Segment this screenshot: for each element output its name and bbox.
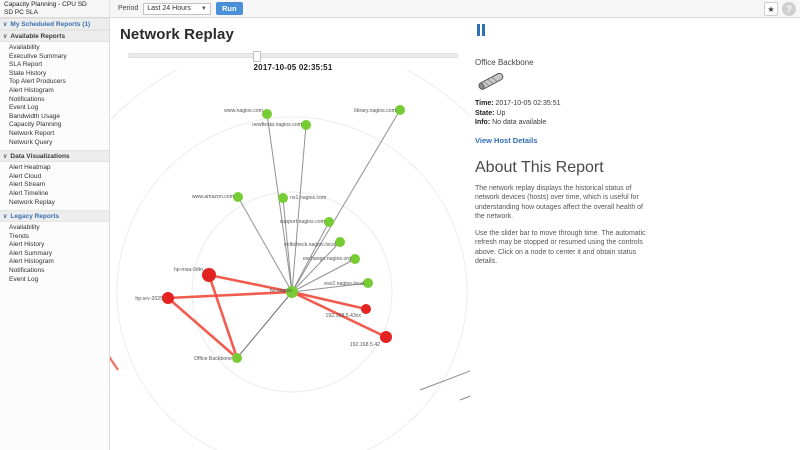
chevron-down-icon: ▼ [201,6,207,12]
network-graph-canvas[interactable]: www.nagios.comnewfiesta.nagios.comlibrar… [110,70,470,450]
node-info-key: Info: [475,119,490,126]
graph-node-label: newfiesta.nagios.com [252,122,302,128]
graph-node[interactable] [278,193,288,203]
period-select[interactable]: Last 24 Hours ▼ [143,3,211,15]
graph-node[interactable] [350,254,360,264]
graph-node[interactable] [335,237,345,247]
view-host-details-link[interactable]: View Host Details [475,136,650,145]
sidebar-item-network-replay[interactable]: Network Replay [9,199,109,208]
about-report-title: About This Report [475,159,650,177]
sidebar-item-event-log[interactable]: Event Log [9,276,109,285]
sidebar-item-availability[interactable]: Availability [9,224,109,233]
sidebar-item-notifications[interactable]: Notifications [9,96,109,105]
sidebar-section-data-visualizations[interactable]: ∨Data Visualizations [0,150,109,162]
graph-node-label: www.nagios.com [224,108,263,114]
chevron-down-icon: ∨ [3,21,7,28]
graph-node[interactable] [363,278,373,288]
main-content: Network Replay 2017-10-05 02:35:51 www.n… [110,18,800,450]
pause-icon-bar-left [477,24,480,36]
pause-button[interactable] [477,24,491,36]
node-status-block: Time: 2017-10-05 02:35:51 State: Up Info… [475,99,650,128]
chevron-down-icon: ∨ [3,33,7,40]
sidebar-section-label: Legacy Reports [10,213,59,220]
sidebar-item-availability[interactable]: Availability [9,44,109,53]
sidebar-item-top-alert-producers[interactable]: Top Alert Producers [9,78,109,87]
sidebar-section-label: Available Reports [10,33,65,40]
sidebar-section-items: AvailabilityTrendsAlert HistoryAlert Sum… [0,222,109,287]
graph-node[interactable] [233,192,243,202]
report-controls: Period Last 24 Hours ▼ Run [110,2,243,15]
graph-node-label: support.nagios.com [280,219,325,225]
node-info-row: Info: No data available [475,118,650,128]
sidebar-item-bandwidth-usage[interactable]: Bandwidth Usage [9,113,109,122]
sidebar: ∨My Scheduled Reports (1)∨Available Repo… [0,18,110,450]
node-state-value: Up [496,110,505,117]
sidebar-section-items: AvailabilityExecutive SummarySLA ReportS… [0,42,109,150]
sidebar-item-alert-timeline[interactable]: Alert Timeline [9,190,109,199]
sidebar-item-capacity-planning[interactable]: Capacity Planning [9,121,109,130]
graph-edge [292,110,400,292]
graph-node-label: esx2.nagios.local [324,281,364,287]
help-icon[interactable]: ? [782,2,796,16]
selected-node-name: Office Backbone [475,58,650,67]
sidebar-section-available-reports[interactable]: ∨Available Reports [0,30,109,42]
about-report-paragraph-2: Use the slider bar to move through time.… [475,229,650,267]
current-report-line1: Capacity Planning - CPU SD [4,1,105,9]
graph-node[interactable] [395,105,405,115]
sidebar-item-notifications[interactable]: Notifications [9,267,109,276]
time-slider-handle[interactable] [253,51,261,62]
network-replay-app: Capacity Planning - CPU SD SD PC SLA Per… [0,0,800,450]
graph-node-label: exchange.nagios.org [303,256,351,262]
node-info-value: No data available [492,119,546,126]
switch-device-icon [475,73,509,91]
top-bar-actions: ★ ? [764,2,796,16]
sidebar-item-event-log[interactable]: Event Log [9,104,109,113]
sidebar-section-label: My Scheduled Reports (1) [10,21,90,28]
graph-ring [117,117,467,450]
sidebar-item-executive-summary[interactable]: Executive Summary [9,53,109,62]
node-state-key: State: [475,110,494,117]
sidebar-item-alert-histogram[interactable]: Alert Histogram [9,87,109,96]
pause-icon-bar-right [482,24,485,36]
graph-node-label: 192.168.5.43xx [326,313,362,319]
graph-node-label: fw-nagios [270,288,293,294]
graph-node[interactable] [361,304,371,314]
graph-node[interactable] [162,292,174,304]
graph-node[interactable] [380,331,392,343]
chevron-down-icon: ∨ [3,213,7,220]
app-body: ∨My Scheduled Reports (1)∨Available Repo… [0,18,800,450]
sidebar-item-alert-histogram[interactable]: Alert Histogram [9,258,109,267]
graph-node-label: Office Backbone [194,356,232,362]
chevron-down-icon: ∨ [3,153,7,160]
graph-node[interactable] [262,109,272,119]
about-report-paragraph-1: The network replay displays the historic… [475,184,650,222]
top-bar: Capacity Planning - CPU SD SD PC SLA Per… [0,0,800,18]
sidebar-item-alert-cloud[interactable]: Alert Cloud [9,173,109,182]
graph-edge [110,340,118,370]
details-panel: Office Backbone Time: 2017-10-05 02:35:5… [465,18,660,450]
graph-node[interactable] [232,353,242,363]
graph-node-label: hp-msa-0dtn [174,267,203,273]
graph-node-label: hp-srv-2025 [135,296,163,302]
sidebar-item-sla-report[interactable]: SLA Report [9,61,109,70]
current-report-name: Capacity Planning - CPU SD SD PC SLA [0,0,110,17]
sidebar-item-trends[interactable]: Trends [9,233,109,242]
sidebar-item-state-history[interactable]: State History [9,70,109,79]
graph-node-label: imlbcheck.nagios.local [284,242,336,248]
graph-node-label: www.amazon.com [192,194,234,200]
sidebar-item-alert-heatmap[interactable]: Alert Heatmap [9,164,109,173]
graph-node-label: ns1.nagios.com [290,195,326,201]
sidebar-item-alert-summary[interactable]: Alert Summary [9,250,109,259]
sidebar-section-label: Data Visualizations [10,153,69,160]
graph-edge [292,125,306,292]
sidebar-section-legacy-reports[interactable]: ∨Legacy Reports [0,210,109,222]
node-state-row: State: Up [475,109,650,119]
graph-node-label: library.nagios.com [354,108,396,114]
sidebar-item-network-report[interactable]: Network Report [9,130,109,139]
graph-edge [292,292,366,309]
period-select-value: Last 24 Hours [147,5,191,12]
node-time-row: Time: 2017-10-05 02:35:51 [475,99,650,109]
graph-node[interactable] [301,120,311,130]
page-title: Network Replay [120,26,234,43]
graph-node-label: 192.168.5.42 [350,342,380,348]
period-label: Period [118,5,138,12]
sidebar-section-items: Alert HeatmapAlert CloudAlert StreamAler… [0,162,109,210]
graph-edge [267,114,292,292]
sidebar-item-alert-stream[interactable]: Alert Stream [9,181,109,190]
graph-node[interactable] [202,268,216,282]
node-time-key: Time: [475,100,494,107]
current-report-line2: SD PC SLA [4,9,105,17]
network-graph[interactable]: www.nagios.comnewfiesta.nagios.comlibrar… [110,70,800,450]
time-slider-track[interactable] [128,53,458,58]
run-button[interactable]: Run [216,2,243,15]
graph-node[interactable] [324,217,334,227]
graph-edge [237,292,292,358]
graph-edge [420,352,470,390]
sidebar-section-my-scheduled-reports-1[interactable]: ∨My Scheduled Reports (1) [0,18,109,30]
sidebar-item-network-query[interactable]: Network Query [9,139,109,148]
star-icon[interactable]: ★ [764,2,778,16]
node-time-value: 2017-10-05 02:35:51 [496,100,561,107]
sidebar-item-alert-history[interactable]: Alert History [9,241,109,250]
